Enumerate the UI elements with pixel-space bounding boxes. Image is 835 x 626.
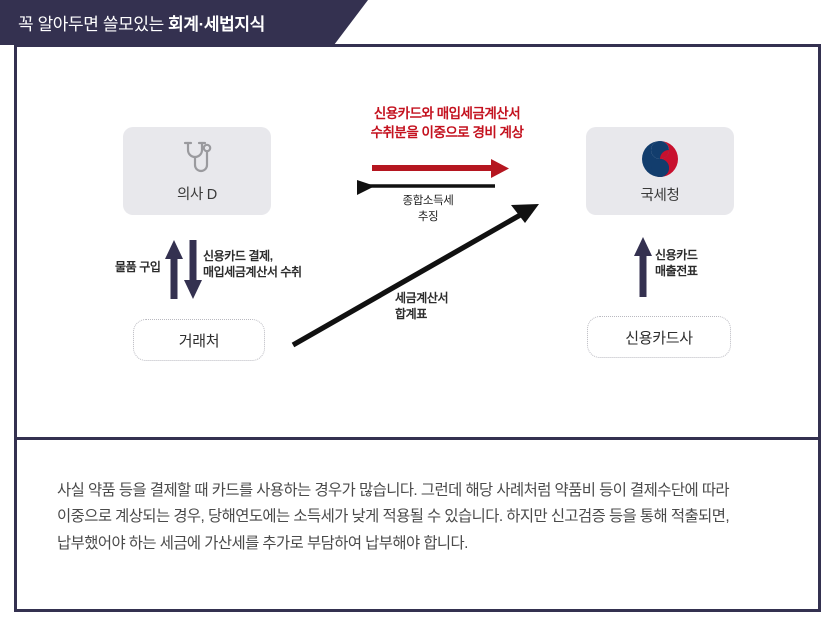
label-double-expense-note: 신용카드와 매입세금계산서 수취분을 이중으로 경비 계상 [327, 105, 567, 143]
entity-vendor: 거래처 [133, 319, 265, 361]
navy-arrow-up-goods [165, 240, 183, 299]
label-card-slip-line2: 매출전표 [655, 263, 698, 279]
label-income-tax-line2: 추징 [373, 210, 483, 226]
stethoscope-icon [181, 139, 213, 179]
label-double-expense-line1: 신용카드와 매입세금계산서 [327, 105, 567, 124]
diagonal-arrow-tax-invoice-summary [293, 204, 539, 345]
label-income-tax: 종합소득세 추징 [373, 194, 483, 225]
label-tax-invoice-line1: 세금계산서 [395, 290, 505, 306]
label-card-slip-line1: 신용카드 [655, 247, 698, 263]
flow-diagram: 의사 D 국세청 거래처 신용카드사 신용카드와 매입세금계산서 수취분을 이 [17, 47, 818, 437]
content-panel: 의사 D 국세청 거래처 신용카드사 신용카드와 매입세금계산서 수취분을 이 [14, 44, 821, 612]
entity-nts-label: 국세청 [640, 184, 679, 205]
header-title-prefix: 꼭 알아두면 쓸모있는 [18, 15, 168, 34]
label-tax-invoice-line2: 합계표 [395, 306, 505, 322]
label-card-payment-line1: 신용카드 결제, [203, 248, 302, 264]
explanation-section: 사실 약품 등을 결제할 때 카드를 사용하는 경우가 많습니다. 그런데 해당… [17, 440, 818, 612]
entity-doctor-label: 의사 D [177, 183, 217, 204]
infographic-root: 꼭 알아두면 쓸모있는 회계·세법지식 [0, 0, 835, 626]
label-goods-purchase: 물품 구입 [115, 259, 161, 275]
label-card-payment: 신용카드 결제, 매입세금계산서 수취 [203, 248, 302, 280]
korean-government-taeguk-icon [639, 138, 681, 180]
navy-arrow-down-card-payment [184, 240, 202, 299]
label-double-expense-line2: 수취분을 이중으로 경비 계상 [327, 124, 567, 143]
red-arrow-double-expense [372, 159, 509, 178]
page-title: 꼭 알아두면 쓸모있는 회계·세법지식 [18, 10, 265, 35]
entity-national-tax-service: 국세청 [586, 127, 734, 215]
entity-card-company: 신용카드사 [587, 316, 731, 358]
entity-doctor: 의사 D [123, 127, 271, 215]
label-card-payment-line2: 매입세금계산서 수취 [203, 264, 302, 280]
label-card-sales-slip: 신용카드 매출전표 [655, 247, 698, 279]
label-income-tax-line1: 종합소득세 [373, 194, 483, 210]
black-arrow-income-tax [357, 180, 495, 195]
navy-arrow-up-card-slip [634, 237, 652, 297]
header-title-emphasis: 회계·세법지식 [168, 15, 265, 34]
explanation-paragraph: 사실 약품 등을 결제할 때 카드를 사용하는 경우가 많습니다. 그런데 해당… [57, 478, 778, 557]
label-tax-invoice-summary: 세금계산서 합계표 [395, 290, 505, 322]
